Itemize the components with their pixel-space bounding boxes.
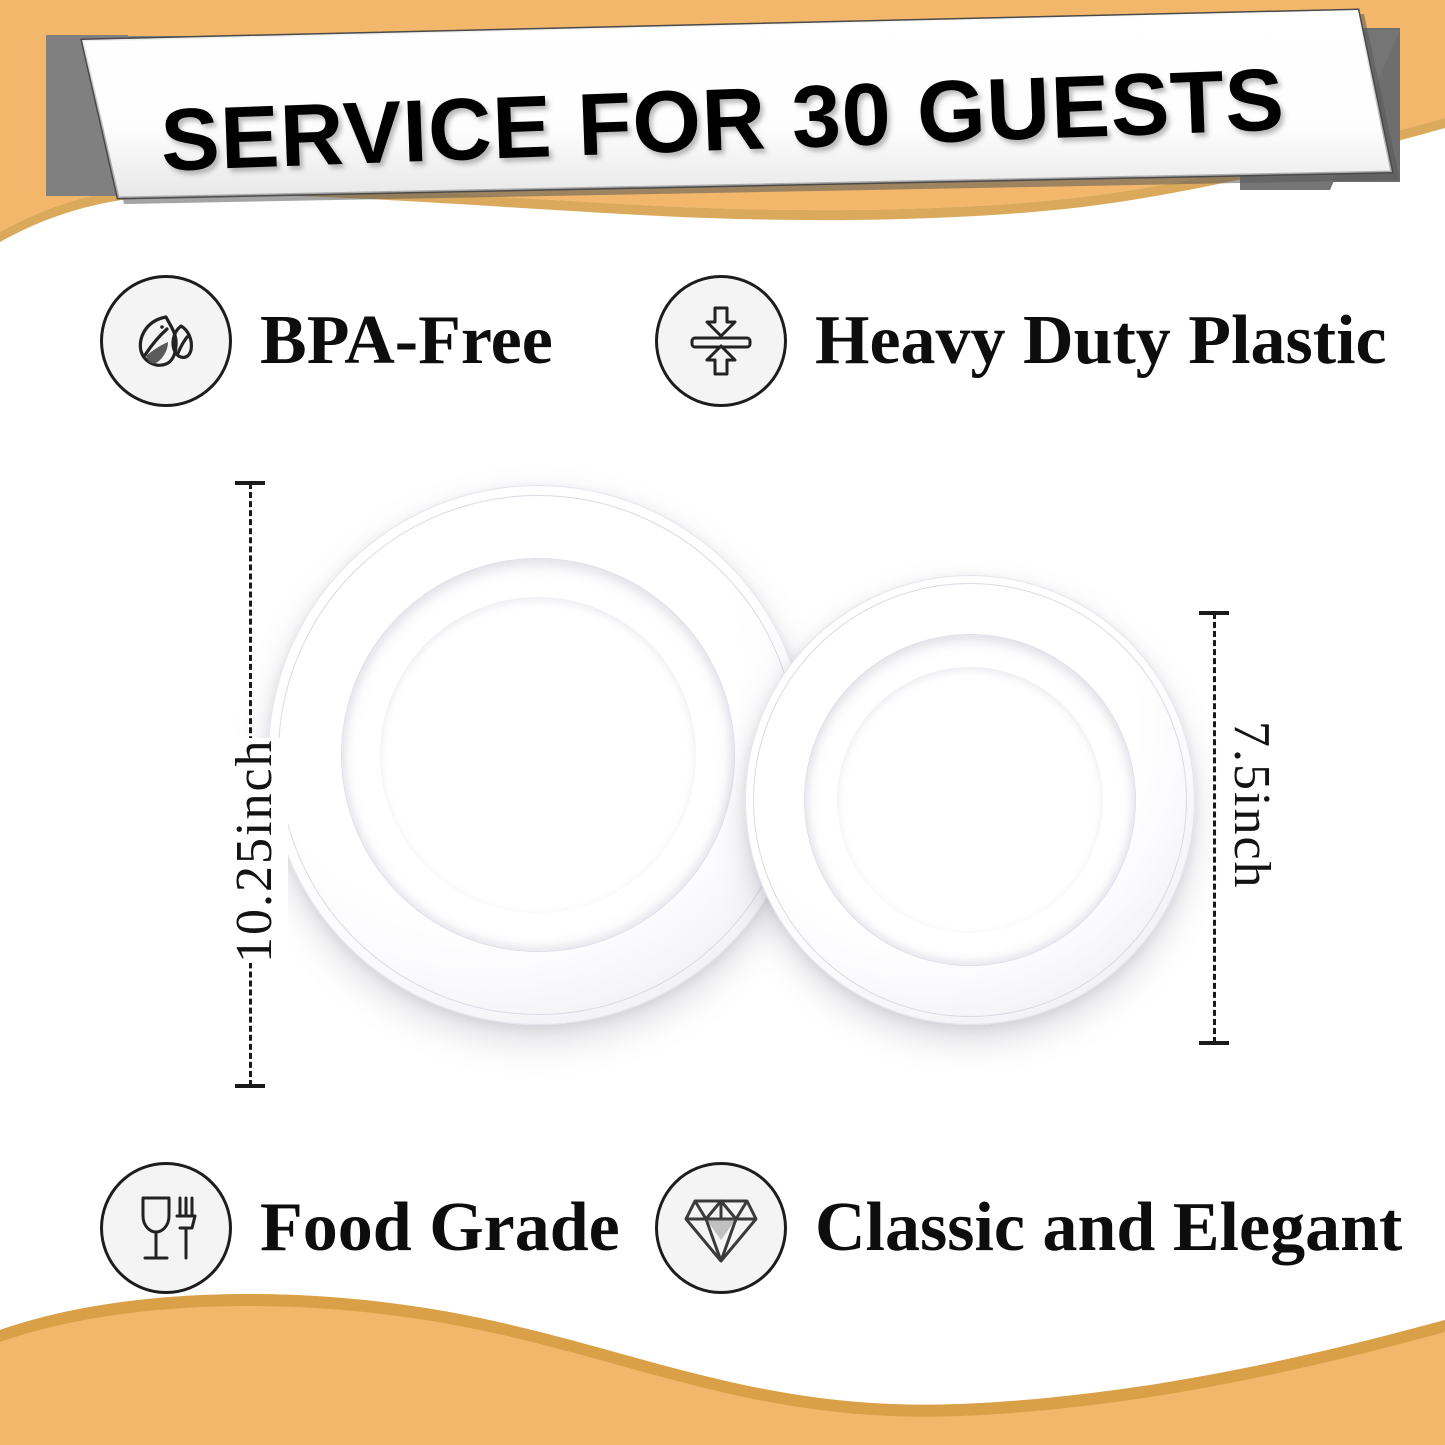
feature-heavy-duty: Heavy Duty Plastic [655,275,1387,407]
dimension-cap-bottom-right [1199,1041,1229,1045]
infographic-page: SERVICE FOR 30 GUESTS BPA-Free [0,0,1445,1445]
feature-label-classic-elegant: Classic and Elegant [815,1193,1402,1263]
dimension-cap-top-right [1199,611,1229,615]
compression-icon [655,275,787,407]
feature-label-heavy-duty: Heavy Duty Plastic [815,306,1387,376]
dimension-cap-top-left [235,481,265,485]
dimension-line-right [1213,613,1216,1043]
feature-label-food-grade: Food Grade [260,1193,620,1263]
feature-label-bpa-free: BPA-Free [260,306,553,376]
feature-bpa-free: BPA-Free [100,275,553,407]
salad-plate-well [837,667,1103,933]
diamond-icon [655,1162,787,1294]
bottom-orange-wave [0,1294,1445,1445]
dinner-plate [268,485,808,1025]
salad-plate [745,575,1195,1025]
dinner-plate-well [380,597,696,913]
feature-food-grade: Food Grade [100,1162,620,1294]
banner: SERVICE FOR 30 GUESTS [0,0,1445,230]
leaf-icon [100,275,232,407]
dimension-label-large-plate: 10.25inch [221,738,288,963]
feature-classic-elegant: Classic and Elegant [655,1162,1402,1294]
dimension-label-small-plate: 7.5inch [1218,721,1285,890]
dimension-cap-bottom-left [235,1084,265,1088]
glass-fork-icon [100,1162,232,1294]
